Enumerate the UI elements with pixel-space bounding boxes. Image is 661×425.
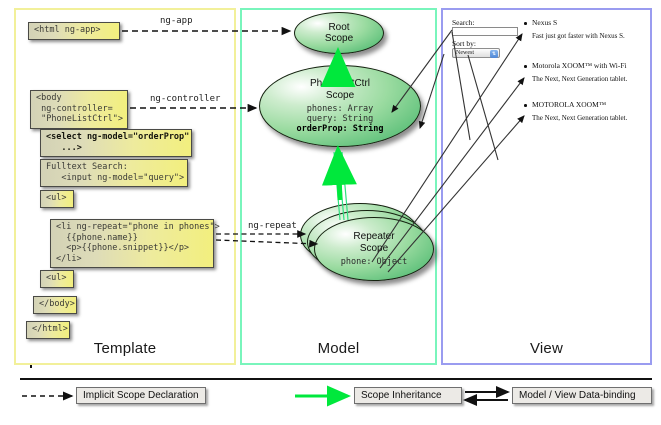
phone-snippet: Fast just got faster with Nexus S.: [532, 32, 650, 41]
view-list-item: MOTOROLA XOOM™ The Next, Next Generation…: [532, 100, 650, 123]
list-bullet: [524, 22, 527, 25]
panel-title-view: View: [443, 340, 650, 357]
legend-glyph-double: [465, 392, 508, 400]
phone-snippet: The Next, Next Generation tablet.: [532, 114, 650, 123]
phone-name: Nexus S: [532, 18, 650, 27]
phone-name: Motorola XOOM™ with Wi-Fi: [532, 61, 650, 70]
phone-snippet: The Next, Next Generation tablet.: [532, 75, 650, 84]
legend-item-scope-inheritance: Scope Inheritance: [354, 387, 462, 404]
phone-name: MOTOROLA XOOM™: [532, 100, 650, 109]
legend-item-model-view-data-binding: Model / View Data-binding: [512, 387, 652, 404]
scope-phonelistctrl-props-plain: phones: Array query: String: [307, 104, 374, 124]
code-box-html-open: <html ng-app>: [28, 22, 120, 40]
code-box-li-repeat: <li ng-repeat="phone in phones"> {{phone…: [50, 219, 214, 268]
code-box-body-close: </body>: [33, 296, 77, 314]
view-sort-label: Sort by:: [452, 39, 476, 48]
figure-bottom-rule: [20, 378, 652, 380]
scope-repeater: Repeater Scope phone: Object: [314, 217, 434, 281]
code-box-select-tag: <select ng-model="orderProp" ...>: [40, 129, 192, 157]
scope-root-title-line2: Scope: [325, 33, 353, 45]
scope-phonelistctrl-title-line1: PhoneListCtrl: [310, 78, 370, 90]
panel-title-model: Model: [242, 340, 435, 357]
code-box-html-close: </html>: [26, 321, 70, 339]
scope-phonelistctrl-title-line2: Scope: [326, 90, 354, 102]
view-list-item: Motorola XOOM™ with Wi-Fi The Next, Next…: [532, 61, 650, 84]
panel-model: Model: [240, 8, 437, 365]
view-sort-select[interactable]: Newest ⇅: [452, 48, 500, 58]
list-bullet: [524, 65, 527, 68]
view-sort-select-value: Newest: [456, 50, 474, 56]
list-bullet: [524, 104, 527, 107]
code-box-body-open: <body ng-controller= "PhoneListCtrl">: [30, 90, 128, 129]
scope-root: Root Scope: [294, 12, 384, 54]
code-box-ul-close: <ul>: [40, 270, 74, 288]
view-search-input[interactable]: [452, 27, 518, 36]
legend-item-implicit-scope-declaration: Implicit Scope Declaration: [76, 387, 206, 404]
diagram-canvas: Template Model View <html ng-app> <body …: [0, 0, 661, 425]
panel-title-template: Template: [16, 340, 234, 357]
chevron-updown-icon: ⇅: [490, 50, 498, 58]
code-box-search-input: Fulltext Search: <input ng-model="query"…: [40, 159, 188, 187]
view-search-label: Search:: [452, 18, 475, 27]
scope-phonelistctrl-props-bold: orderProp: String: [297, 124, 384, 134]
scope-repeater-title-line1: Repeater: [353, 231, 394, 243]
scope-repeater-props: phone: Object: [341, 257, 408, 267]
scope-repeater-title-line2: Scope: [360, 243, 388, 255]
scope-root-title-line1: Root: [328, 22, 349, 34]
scope-phonelistctrl: PhoneListCtrl Scope phones: Array query:…: [259, 65, 421, 147]
code-box-ul-open: <ul>: [40, 190, 74, 208]
view-list-item: Nexus S Fast just got faster with Nexus …: [532, 18, 650, 41]
